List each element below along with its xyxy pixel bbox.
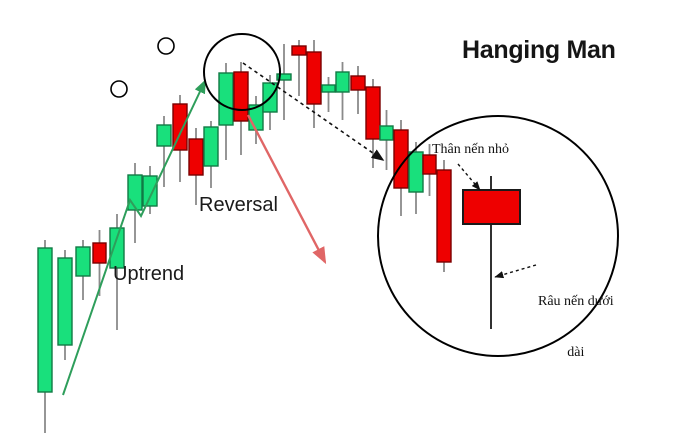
candle-body: [336, 72, 349, 92]
candlestick: [322, 77, 335, 112]
candle-body: [128, 175, 142, 210]
candlestick: [58, 250, 72, 360]
candle-body: [351, 76, 365, 90]
hanging-man-diagram: Hanging Man Uptrend Reversal Thân nến nh…: [0, 0, 690, 433]
reversal-line: [248, 115, 325, 262]
candlestick: [336, 62, 349, 120]
candle-body: [38, 248, 52, 392]
page-title: Hanging Man: [462, 36, 616, 65]
candlestick: [366, 79, 380, 168]
candle-body: [307, 52, 321, 104]
candle-body: [93, 243, 106, 263]
candlestick: [128, 163, 142, 243]
candlestick: [380, 110, 393, 170]
doji-markers: [111, 38, 174, 97]
doji-circle-2: [158, 38, 174, 54]
candle-body: [189, 139, 203, 175]
candlestick: [292, 40, 306, 96]
candle-body: [292, 46, 306, 55]
candle-body: [157, 125, 171, 146]
uptrend-label: Uptrend: [113, 263, 184, 286]
trend-lines: [63, 81, 325, 395]
candle-body: [437, 170, 451, 262]
candle-body: [322, 85, 335, 92]
candle-body: [409, 152, 423, 192]
candlestick: [351, 66, 365, 114]
uptrend-line: [63, 81, 205, 395]
candle-body: [143, 176, 157, 206]
hanging-man-candle: [463, 176, 520, 329]
small-body-pointer-arrow: [458, 164, 480, 190]
long-lower-shadow-label-line1: Râu nến dưới: [538, 293, 614, 310]
candlestick: [394, 120, 408, 216]
candle-body: [110, 228, 124, 268]
lower-shadow-pointer-arrow: [495, 265, 536, 277]
candle-body: [380, 126, 393, 140]
candle-body: [366, 87, 380, 139]
small-body-label: Thân nến nhỏ: [432, 142, 509, 158]
candle-body: [76, 247, 90, 276]
candle-series: [38, 40, 451, 433]
candlestick: [219, 63, 233, 160]
candlestick: [234, 62, 248, 155]
candle-body: [204, 127, 218, 166]
candlestick: [437, 160, 451, 272]
candle-body: [58, 258, 72, 345]
candle-body: [219, 73, 233, 125]
candlestick: [204, 121, 218, 188]
candlestick: [38, 240, 52, 433]
candle-body: [234, 72, 248, 121]
long-lower-shadow-label: Râu nến dưới dài: [538, 259, 614, 395]
candle-body: [463, 190, 520, 224]
candlestick: [173, 95, 187, 182]
candlestick: [76, 240, 90, 300]
reversal-label: Reversal: [199, 194, 278, 217]
long-lower-shadow-label-line2: dài: [538, 344, 614, 361]
doji-circle-1: [111, 81, 127, 97]
